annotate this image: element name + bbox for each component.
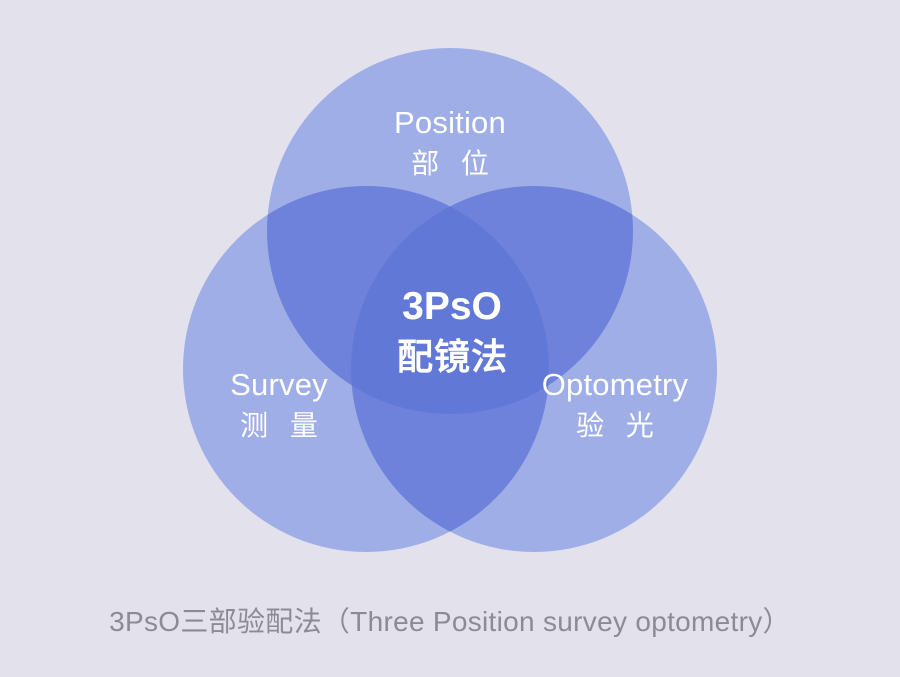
- label-optometry: Optometry 验 光: [542, 365, 689, 444]
- venn-diagram: Position 部 位 Survey 测 量 Optometry 验 光 3P…: [0, 0, 900, 677]
- diagram-caption: 3PsO三部验配法（Three Position survey optometr…: [0, 600, 900, 640]
- label-center: 3PsO 配镜法: [396, 282, 508, 380]
- label-survey: Survey 测 量: [230, 365, 328, 444]
- label-center-cn: 配镜法: [396, 334, 508, 380]
- label-position-en: Position: [394, 103, 506, 143]
- label-survey-en: Survey: [230, 365, 328, 405]
- label-optometry-en: Optometry: [542, 365, 689, 405]
- label-position-cn: 部 位: [394, 146, 506, 182]
- label-optometry-cn: 验 光: [542, 408, 689, 444]
- label-survey-cn: 测 量: [230, 408, 328, 444]
- label-position: Position 部 位: [394, 103, 506, 182]
- label-center-en: 3PsO: [396, 282, 508, 332]
